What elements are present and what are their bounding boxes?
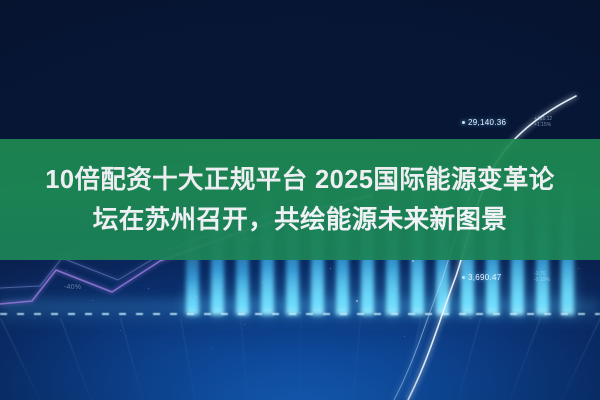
headline-line-1: 10倍配资十大正规平台 2025国际能源变革论 — [45, 160, 554, 200]
promotional-banner-image: 29,140.36 +331.12 +1.15% 3,690.47 -3.76 … — [0, 0, 600, 400]
index-high-marker-dot — [462, 121, 465, 124]
index-high-sublabels: +331.12 +1.15% — [534, 116, 552, 128]
sparkle-dot — [412, 260, 414, 262]
index-high-label: 29,140.36 — [462, 118, 506, 127]
headline-banner: 10倍配资十大正规平台 2025国际能源变革论 坛在苏州召开，共绘能源未来新图景 — [0, 139, 600, 260]
faint-percent-label: -40% — [64, 284, 81, 291]
index-high-value: 29,140.36 — [468, 118, 506, 127]
headline-line-2: 坛在苏州召开，共绘能源未来新图景 — [93, 200, 507, 240]
index-low-sublabels: -3.76 -0.10% — [534, 271, 550, 283]
index-low-value: 3,690.47 — [468, 273, 502, 282]
index-low-label: 3,690.47 — [462, 273, 502, 282]
sparkle-dot — [34, 318, 35, 319]
sparkle-dot — [356, 300, 358, 302]
index-high-percent: +1.15% — [534, 122, 552, 128]
index-low-percent: -0.10% — [534, 277, 550, 283]
index-low-marker-dot — [462, 276, 465, 279]
